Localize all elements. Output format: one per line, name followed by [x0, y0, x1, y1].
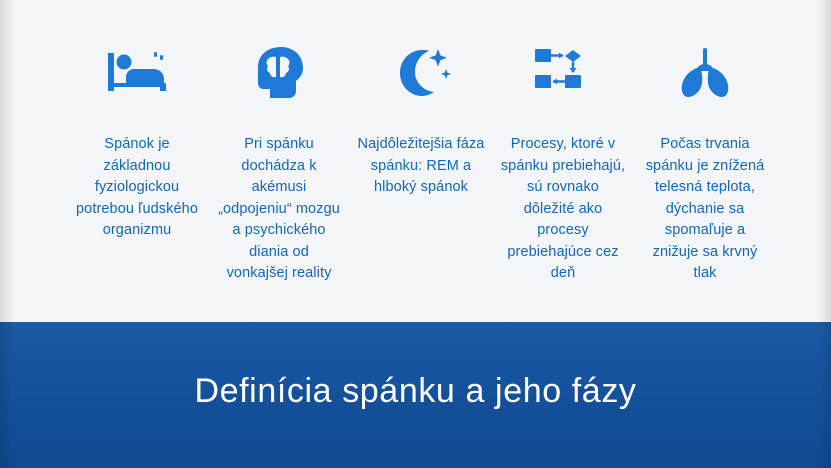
icon-columns: Spánok je základnou fyziologickou potreb…: [0, 40, 831, 285]
column-mind-disconnection: Pri spánku dochádza k akémusi „odpojeniu…: [208, 40, 350, 285]
column-rem-deep-sleep: Najdôležitejšia fáza spánku: REM a hlbok…: [350, 40, 492, 199]
column-text: Počas trvania spánku je znížená telesná …: [643, 134, 768, 285]
column-text: Pri spánku dochádza k akémusi „odpojeniu…: [217, 134, 342, 285]
column-text: Spánok je základnou fyziologickou potreb…: [75, 134, 200, 242]
page-title: Definícia spánku a jeho fázy: [0, 372, 831, 411]
column-sleep-basic-need: Spánok je základnou fyziologickou potreb…: [66, 40, 208, 242]
head-brain-icon: [250, 40, 308, 106]
column-processes: Procesy, ktoré v spánku prebiehajú, sú r…: [492, 40, 634, 285]
column-body-temperature: Počas trvania spánku je znížená telesná …: [634, 40, 776, 285]
moon-stars-icon: [388, 40, 454, 106]
column-text: Najdôležitejšia fáza spánku: REM a hlbok…: [351, 134, 491, 199]
bed-sleeping-person-icon: [106, 40, 168, 106]
lungs-icon: [676, 40, 734, 106]
column-text: Procesy, ktoré v spánku prebiehajú, sú r…: [501, 134, 626, 285]
presentation-slide: Spánok je základnou fyziologickou potreb…: [0, 0, 831, 468]
process-flow-diagram-icon: [533, 40, 593, 106]
